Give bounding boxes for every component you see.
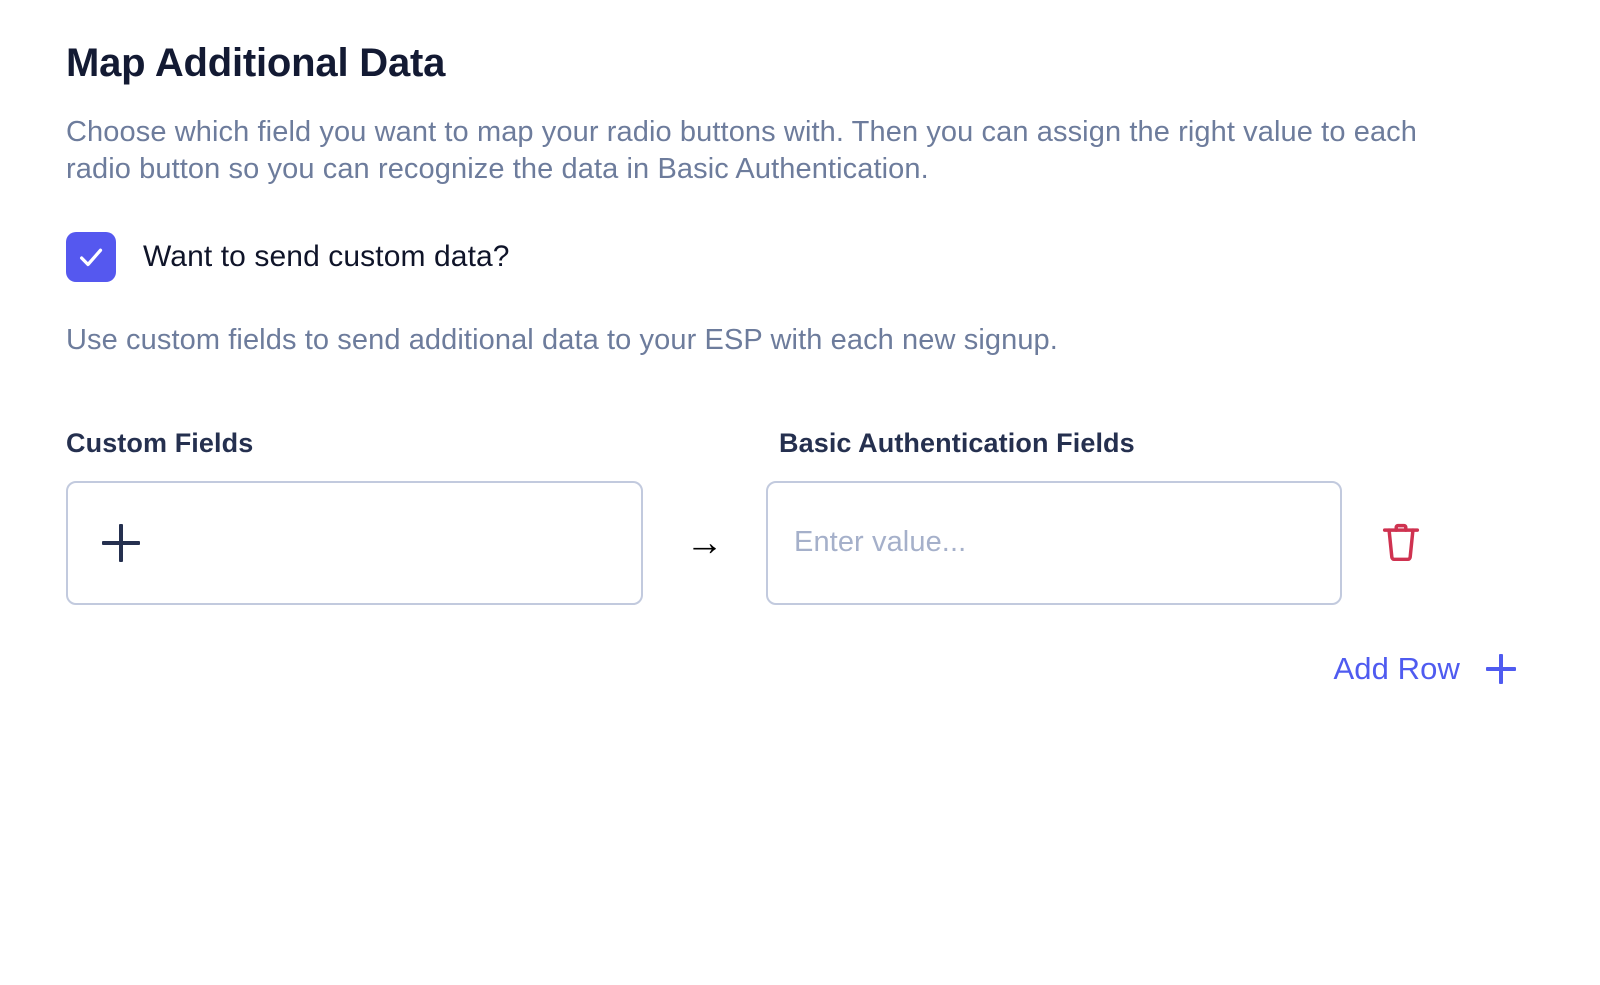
custom-data-checkbox-row[interactable]: Want to send custom data? (66, 232, 1540, 282)
custom-data-checkbox[interactable] (66, 232, 116, 282)
add-row-label: Add Row (1334, 651, 1461, 687)
field-mapping-grid: Custom Fields Basic Authentication Field… (66, 428, 1536, 605)
page-title: Map Additional Data (66, 38, 1540, 88)
field-mapping-header-row: Custom Fields Basic Authentication Field… (66, 428, 1536, 459)
check-icon (76, 242, 106, 272)
custom-field-selector[interactable] (66, 481, 643, 605)
add-row-button[interactable]: Add Row (1334, 651, 1517, 687)
basic-authentication-field-placeholder: Enter value... (794, 526, 966, 559)
basic-authentication-field-input[interactable]: Enter value... (766, 481, 1342, 605)
basic-authentication-fields-column-header: Basic Authentication Fields (779, 428, 1135, 458)
custom-data-checkbox-label[interactable]: Want to send custom data? (143, 242, 510, 272)
add-row-container: Add Row (66, 651, 1536, 687)
panel-description: Choose which field you want to map your … (66, 114, 1436, 188)
map-additional-data-panel: Map Additional Data Choose which field y… (0, 0, 1600, 985)
trash-icon (1379, 520, 1423, 566)
mapping-arrow: → (643, 524, 766, 562)
plus-icon (1486, 654, 1516, 684)
delete-row-button[interactable] (1373, 514, 1429, 572)
custom-fields-column-header: Custom Fields (66, 428, 253, 458)
delete-row-cell (1342, 514, 1460, 572)
plus-icon (102, 524, 140, 562)
table-row: → Enter value... (66, 481, 1536, 605)
custom-fields-helper-text: Use custom fields to send additional dat… (66, 322, 1540, 360)
